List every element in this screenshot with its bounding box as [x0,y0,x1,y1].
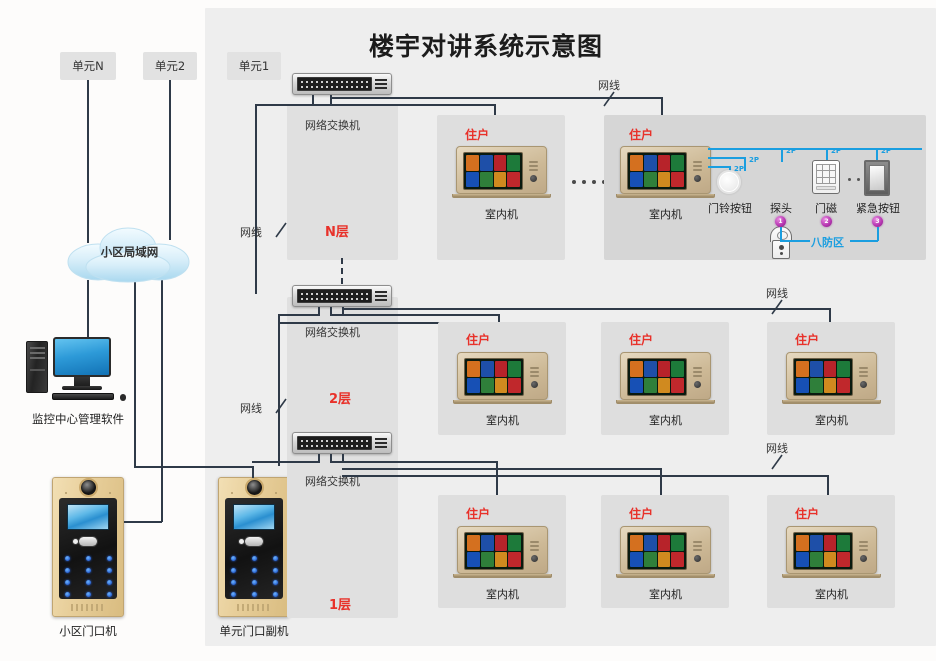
monitor-base-23 [782,400,881,404]
port-label-2p-2: 2P [749,156,759,164]
indoor-monitor-label-13: 室内机 [786,586,877,602]
door-station-lcd [67,504,109,530]
camera-icon [79,478,98,497]
card-reader-icon [79,537,97,546]
indoor-monitor-label-n2: 室内机 [620,206,711,222]
port-label-2p-4: 2P [831,147,841,155]
wire-sw1-h-res2 [342,468,662,470]
monitor-screen [793,532,853,570]
resident-label-23: 住户 [795,331,819,348]
wire-sw2-h-res3 [342,308,831,310]
pc-mouse-icon [120,394,126,401]
wire-cloud-to-communitydoor [161,280,163,522]
wire-cloud-to-pc [87,280,89,338]
diagram-canvas: 楼宇对讲系统示意图 单元N 单元2 单元1 小区局域网 [0,0,936,661]
port-label-2p-5: 2P [881,147,891,155]
switch-label-2: 网络交换机 [305,327,360,338]
monitor-screen [627,532,687,570]
monitor-buttons[interactable] [691,532,704,570]
blue-bus-line-2 [708,157,744,159]
indoor-monitor-11 [457,526,548,574]
blue-drop-door-contact [781,148,783,162]
wire-sw2-left-h [278,314,320,316]
zone-bus-h2 [850,240,878,242]
indoor-monitor-label-23: 室内机 [786,412,877,428]
connector-dot-2 [857,178,860,181]
indoor-monitor-n2 [620,146,711,194]
floor-label-2: 2层 [329,388,351,407]
monitor-base-n2 [616,194,715,198]
page-title: 楼宇对讲系统示意图 [369,27,603,63]
resident-label-11: 住户 [466,505,490,522]
wire-unitn-trunk [87,80,89,243]
wire-swn-right-h [330,104,496,106]
wire-label-left-2: 网线 [240,400,262,416]
unit-label-1: 单元1 [227,52,281,80]
monitor-base-13 [782,574,881,578]
community-door-station [52,477,124,617]
network-switch-floor-1[interactable] [292,432,392,454]
resident-label-12: 住户 [629,505,653,522]
floor-gap-dashed [341,258,343,284]
floor-label-1: 1层 [329,594,351,613]
monitor-screen [627,152,687,190]
doorbell-label: 门铃按钮 [703,200,757,216]
zone-marker-3: 3 [872,216,883,227]
monitor-buttons[interactable] [528,532,541,570]
wire-unit2-trunk [169,80,171,240]
wire-unitdoor-bus-v [252,466,254,478]
switch-label-1: 网络交换机 [305,476,360,487]
indoor-monitor-23 [786,352,877,400]
wire-tick-top [602,91,616,107]
monitor-base-11 [453,574,552,578]
pc-monitor-icon [53,337,111,377]
monitor-screen [464,358,524,396]
blue-drop-probe [744,157,746,171]
monitor-buttons[interactable] [527,152,540,190]
network-switch-floor-n[interactable] [292,73,392,95]
wire-sw1-h-res1 [330,461,498,463]
keypad[interactable] [62,554,115,599]
wire-cloud-to-unitdoor [134,280,136,467]
wire-swn-left-h [255,104,332,106]
floor-label-n: N层 [325,221,349,240]
monitor-buttons[interactable] [528,358,541,396]
monitor-base-12 [616,574,715,578]
unit-door-substation [218,477,290,617]
lan-cloud: 小区局域网 [62,222,197,284]
monitor-buttons[interactable] [691,152,704,190]
emergency-button-label: 紧急按钮 [851,200,905,216]
wire-sw1-left-h [252,461,320,463]
monitor-screen [627,358,687,396]
wire-sw1-h-res3 [342,475,829,477]
community-door-station-label: 小区门口机 [40,623,136,639]
monitor-buttons[interactable] [857,532,870,570]
switch-label-n: 网络交换机 [305,120,360,131]
indoor-monitor-label-21: 室内机 [457,412,548,428]
indoor-monitor-n1 [456,146,547,194]
indoor-monitor-21 [457,352,548,400]
keypad[interactable] [228,554,281,599]
indoor-monitor-13 [786,526,877,574]
door-contact-icon [812,160,840,194]
floor-2-box [287,297,398,445]
wire-tick-right-2 [770,299,784,315]
zone-marker-1: 1 [775,216,786,227]
monitor-buttons[interactable] [691,358,704,396]
unit-label-2: 单元2 [143,52,197,80]
unit-label-n: 单元N [60,52,116,80]
zone-bus-h1 [780,240,810,242]
pc-tower-icon [26,341,48,393]
resident-label-13: 住户 [795,505,819,522]
indoor-monitor-label-n1: 室内机 [456,206,547,222]
wire-label-left-n: 网线 [240,224,262,240]
wire-sw2-h-res1 [330,314,500,316]
speaker-icon [71,604,105,611]
monitor-screen [464,532,524,570]
wire-tick-right-1 [770,454,784,470]
resident-label-21: 住户 [466,331,490,348]
wire-tick-left-2 [274,398,288,414]
monitoring-center-pc [26,337,130,403]
network-switch-floor-2[interactable] [292,285,392,307]
indoor-monitor-label-11: 室内机 [457,586,548,602]
wire-unitdoor-bus-h [134,466,254,468]
zone-marker-2: 2 [821,216,832,227]
door-station-lcd [233,504,275,530]
resident-label-n2: 住户 [629,126,653,143]
unit-door-substation-label: 单元门口副机 [204,623,304,639]
wire-sw2-left-down [278,314,280,466]
indoor-monitor-12 [620,526,711,574]
monitor-screen [793,358,853,396]
monitoring-center-label: 监控中心管理软件 [10,411,146,427]
card-reader-icon [245,537,263,546]
zone-bus-v2 [877,227,879,241]
wire-communitydoor-h [124,521,162,523]
indoor-monitor-label-12: 室内机 [620,586,711,602]
monitor-base-n1 [452,194,551,198]
emergency-button-icon [864,160,890,196]
cloud-label: 小区局域网 [62,244,197,260]
doorbell-icon [717,170,741,194]
pc-keyboard-icon [52,393,114,400]
zone-bus-v1 [780,227,782,241]
resident-label-n1: 住户 [465,126,489,143]
wire-swn-down-trunk [255,104,257,294]
blue-bus-line-3 [708,166,729,168]
speaker-icon [237,604,271,611]
camera-icon [245,478,264,497]
monitor-screen [463,152,523,190]
wire-sw2-h-res2 [278,322,464,324]
door-contact-label: 门磁 [808,200,844,216]
motion-detector-label: 探头 [763,200,799,216]
monitor-base-21 [453,400,552,404]
wire-tick-left-n [274,222,288,238]
monitor-base-22 [616,400,715,404]
indoor-monitor-22 [620,352,711,400]
ellipsis-separator [572,180,606,184]
connector-dot-1 [848,178,851,181]
monitor-buttons[interactable] [857,358,870,396]
port-label-2p-3: 2P [786,147,796,155]
zone-label: 八防区 [811,234,844,250]
indoor-monitor-label-22: 室内机 [620,412,711,428]
resident-label-22: 住户 [629,331,653,348]
